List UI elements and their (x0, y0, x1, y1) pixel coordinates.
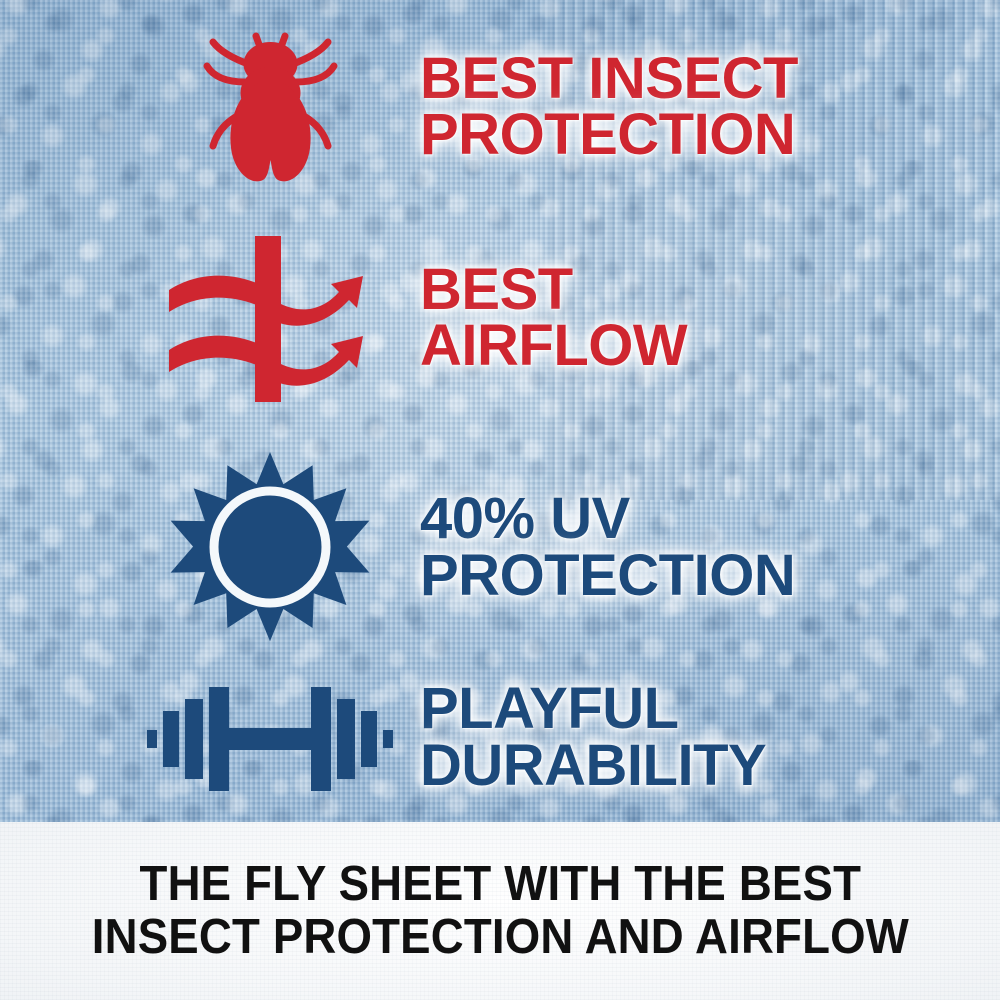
feature-label-cell: 40% UV PROTECTION (410, 491, 930, 604)
feature-list: BEST INSECT PROTECTION (0, 0, 1000, 822)
dumbbell-icon (145, 673, 395, 803)
feature-label-airflow: BEST AIRFLOW (420, 262, 930, 375)
feature-row-insect-protection: BEST INSECT PROTECTION (130, 22, 930, 192)
feature-row-uv-protection: 40% UV PROTECTION (130, 440, 930, 655)
feature-icon-cell (130, 448, 410, 648)
feature-icon-cell (130, 228, 410, 408)
feature-label-cell: BEST AIRFLOW (410, 262, 930, 375)
caption-headline: THE FLY SHEET WITH THE BEST INSECT PROTE… (91, 858, 908, 964)
feature-icon-cell (130, 673, 410, 803)
sun-uv-icon (170, 448, 370, 648)
feature-row-durability: PLAYFUL DURABILITY (130, 655, 930, 820)
feature-label-cell: PLAYFUL DURABILITY (410, 681, 930, 794)
caption-band: THE FLY SHEET WITH THE BEST INSECT PROTE… (0, 822, 1000, 1000)
feature-icon-cell (130, 20, 410, 195)
airflow-arrows-icon (163, 228, 378, 408)
feature-row-airflow: BEST AIRFLOW (130, 228, 930, 408)
feature-label-uv-protection: 40% UV PROTECTION (420, 491, 930, 604)
infographic-page: BEST INSECT PROTECTION (0, 0, 1000, 1000)
feature-label-cell: BEST INSECT PROTECTION (410, 51, 930, 164)
fly-icon (183, 20, 358, 195)
feature-label-durability: PLAYFUL DURABILITY (420, 681, 930, 794)
feature-label-insect-protection: BEST INSECT PROTECTION (420, 51, 930, 164)
